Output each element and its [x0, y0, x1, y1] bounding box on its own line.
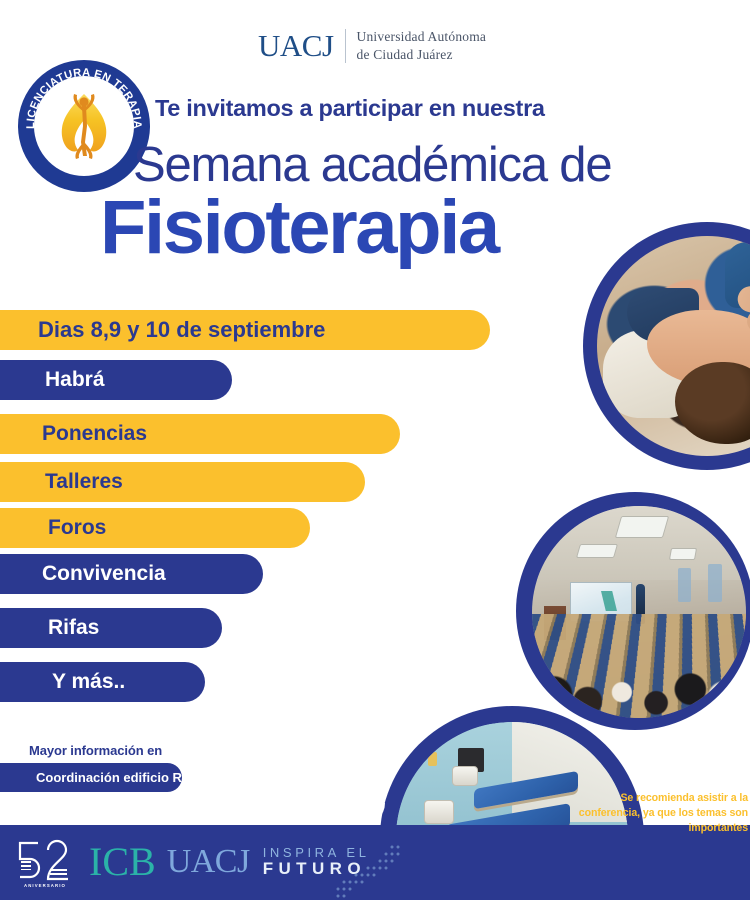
footer-uacj-logo: UACJ [167, 845, 250, 879]
program-pill: Habrá [0, 360, 232, 400]
anniversary-word: ANIVERSARIO [24, 883, 66, 888]
program-pill-label: Dias 8,9 y 10 de septiembre [0, 317, 325, 343]
program-pill-label: Convivencia [0, 562, 166, 586]
anniversary-52-icon [14, 837, 78, 887]
title-line-2: Fisioterapia [100, 190, 498, 266]
uacj-header-logo: UACJ Universidad Autónoma de Ciudad Juár… [258, 28, 486, 64]
program-pill-label: Habrá [0, 368, 105, 392]
photo3-outlet [428, 752, 437, 766]
photo2-lamp-2 [576, 544, 618, 558]
program-pill-label: Rifas [0, 616, 99, 640]
program-pill: Ponencias [0, 414, 400, 454]
program-pill: Y más.. [0, 662, 205, 702]
anniversary-logo: ANIVERSARIO [14, 837, 78, 887]
career-seal-logo: LICENCIATURA EN TERAPIA FÍSICA Y REHABIL… [16, 58, 152, 194]
footer-band: ANIVERSARIO ICB UACJ INSPIRA EL FUTURO [0, 825, 750, 900]
photo3-machine-2 [424, 800, 454, 824]
more-info-label: Mayor información en [29, 743, 162, 758]
university-name-line1: Universidad Autónoma [357, 28, 487, 46]
footer-white-wedge [0, 803, 385, 825]
university-name-line2: de Ciudad Juárez [357, 46, 487, 64]
photo2-wall-panel-2 [708, 564, 722, 602]
university-name: Universidad Autónoma de Ciudad Juárez [357, 28, 487, 64]
icb-logo: ICB [89, 842, 156, 882]
program-pill-label: Ponencias [0, 422, 147, 446]
photo1-hair [675, 362, 750, 444]
dot-pattern-decoration [334, 841, 410, 899]
recommendation-note: Se recomienda asistir a la conferencia, … [578, 791, 748, 836]
uacj-wordmark: UACJ [258, 30, 334, 61]
photo2-wall-panel-1 [678, 568, 691, 602]
photo2-image [532, 506, 746, 718]
program-pill: Talleres [0, 462, 365, 502]
program-pill-label: Y más.. [0, 670, 125, 694]
program-pill: Rifas [0, 608, 222, 648]
photo2-audience [532, 642, 746, 718]
program-pill: Foros [0, 508, 310, 548]
photo1-image [597, 236, 750, 456]
auditorium-conference-photo [516, 492, 750, 730]
invite-line: Te invitamos a participar en nuestra [155, 95, 545, 122]
poster-canvas: UACJ Universidad Autónoma de Ciudad Juár… [0, 0, 750, 900]
photo3-machine-1 [452, 766, 478, 786]
program-pill: Dias 8,9 y 10 de septiembre [0, 310, 490, 350]
footer-logos: ANIVERSARIO ICB UACJ INSPIRA EL FUTURO [14, 833, 370, 891]
coordination-pill-label: Coordinación edificio R [0, 770, 182, 785]
program-pill-label: Foros [0, 516, 106, 540]
program-pill: Convivencia [0, 554, 263, 594]
physiotherapy-treatment-photo [583, 222, 750, 470]
logo-divider [345, 29, 346, 63]
coordination-pill: Coordinación edificio R [0, 763, 182, 792]
program-pill-label: Talleres [0, 470, 123, 494]
photo2-lamp-1 [615, 516, 669, 538]
photo2-lamp-3 [669, 548, 697, 560]
